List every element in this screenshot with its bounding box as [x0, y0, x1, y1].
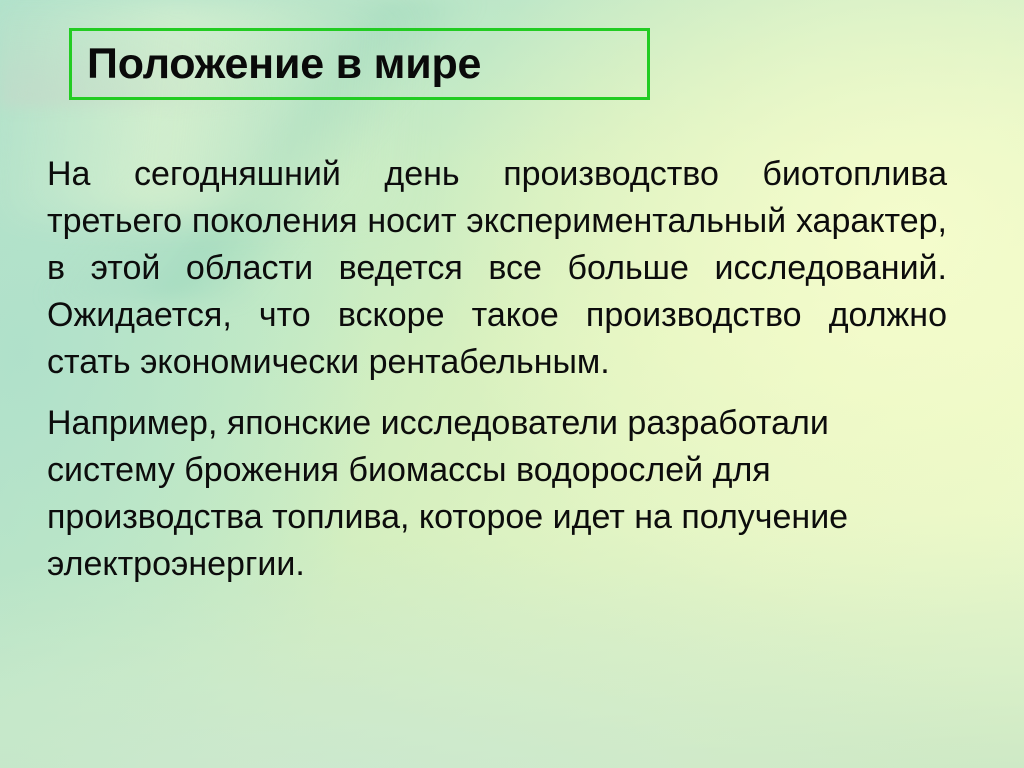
slide-canvas: Положение в мире На сегодняшний день про… — [0, 0, 1024, 768]
slide-title-box: Положение в мире — [69, 28, 650, 100]
slide-body: На сегодняшний день производство биотопл… — [47, 151, 947, 588]
body-paragraph-1: На сегодняшний день производство биотопл… — [47, 151, 947, 386]
body-paragraph-2: Например, японские исследователи разрабо… — [47, 400, 947, 588]
page-title: Положение в мире — [72, 43, 481, 86]
